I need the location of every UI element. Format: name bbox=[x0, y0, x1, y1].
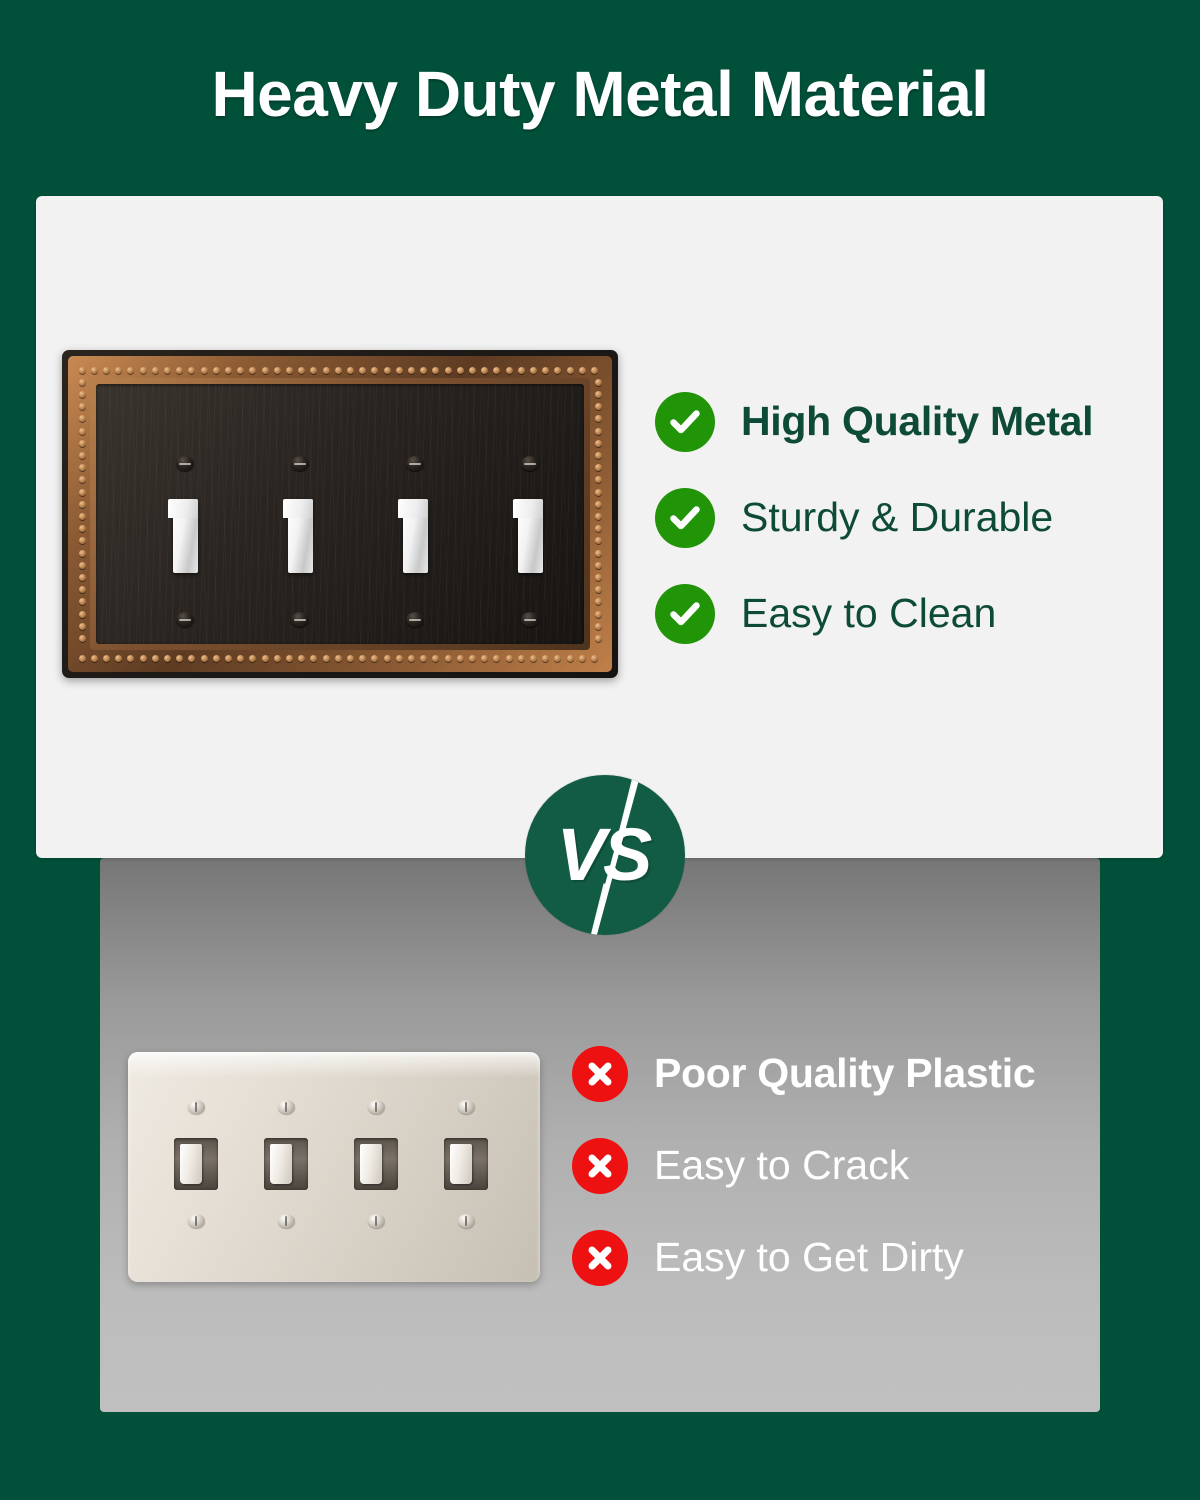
border-bead bbox=[445, 655, 452, 662]
border-bead bbox=[595, 440, 602, 447]
border-bead bbox=[213, 655, 220, 662]
screw-icon bbox=[406, 456, 424, 471]
feature-item: Easy to Get Dirty bbox=[572, 1227, 1112, 1289]
feature-item: High Quality Metal bbox=[655, 388, 1155, 455]
border-bead bbox=[79, 501, 86, 508]
border-bead bbox=[595, 635, 602, 642]
border-bead bbox=[335, 367, 342, 374]
border-bead bbox=[396, 655, 403, 662]
feature-label: Easy to Crack bbox=[654, 1144, 909, 1187]
border-bead bbox=[359, 655, 366, 662]
border-bead bbox=[91, 367, 98, 374]
border-bead bbox=[347, 367, 354, 374]
border-bead bbox=[310, 367, 317, 374]
screw-icon bbox=[406, 612, 424, 627]
screw-icon bbox=[291, 612, 309, 627]
border-bead bbox=[79, 574, 86, 581]
toggle-lever bbox=[180, 1144, 202, 1184]
x-circle-icon bbox=[572, 1046, 628, 1102]
border-bead bbox=[79, 464, 86, 471]
check-circle-icon bbox=[655, 488, 715, 548]
border-bead bbox=[595, 464, 602, 471]
border-bead bbox=[518, 367, 525, 374]
border-bead bbox=[115, 655, 122, 662]
border-bead bbox=[595, 415, 602, 422]
border-bead bbox=[595, 513, 602, 520]
border-bead bbox=[518, 655, 525, 662]
border-bead bbox=[457, 367, 464, 374]
border-bead bbox=[79, 537, 86, 544]
border-bead bbox=[595, 476, 602, 483]
border-bead bbox=[493, 367, 500, 374]
border-bead bbox=[262, 367, 269, 374]
screw-icon bbox=[188, 1100, 205, 1114]
toggle-switch bbox=[403, 499, 428, 573]
vs-badge: VS bbox=[525, 775, 685, 935]
toggle-switch bbox=[288, 499, 313, 573]
border-bead bbox=[432, 367, 439, 374]
toggle-switch bbox=[444, 1138, 488, 1190]
border-bead bbox=[591, 655, 598, 662]
border-bead bbox=[595, 525, 602, 532]
border-bead bbox=[79, 550, 86, 557]
border-bead bbox=[506, 655, 513, 662]
toggle-switch bbox=[518, 499, 543, 573]
border-bead bbox=[567, 367, 574, 374]
border-bead bbox=[323, 655, 330, 662]
border-bead bbox=[140, 367, 147, 374]
border-bead bbox=[481, 655, 488, 662]
toggle-switch bbox=[173, 499, 198, 573]
toggle-switch bbox=[354, 1138, 398, 1190]
check-circle-icon bbox=[655, 392, 715, 452]
screw-icon bbox=[368, 1214, 385, 1228]
border-bead bbox=[530, 367, 537, 374]
border-bead bbox=[79, 415, 86, 422]
feature-item: Easy to Clean bbox=[655, 580, 1155, 647]
border-bead bbox=[542, 367, 549, 374]
border-bead bbox=[237, 655, 244, 662]
border-bead bbox=[249, 367, 256, 374]
border-bead bbox=[310, 655, 317, 662]
check-circle-icon bbox=[655, 584, 715, 644]
border-bead bbox=[188, 655, 195, 662]
border-bead bbox=[595, 428, 602, 435]
border-bead bbox=[164, 367, 171, 374]
feature-label: Easy to Get Dirty bbox=[654, 1236, 964, 1279]
border-bead bbox=[359, 367, 366, 374]
toggle-lever bbox=[450, 1144, 472, 1184]
border-bead bbox=[140, 655, 147, 662]
border-bead bbox=[176, 655, 183, 662]
border-bead bbox=[127, 367, 134, 374]
border-bead bbox=[262, 655, 269, 662]
border-bead bbox=[595, 452, 602, 459]
border-bead bbox=[595, 562, 602, 569]
border-bead bbox=[595, 623, 602, 630]
border-bead bbox=[595, 403, 602, 410]
border-bead bbox=[408, 655, 415, 662]
border-bead bbox=[79, 562, 86, 569]
bad-feature-list: Poor Quality Plastic Easy to Crack Easy … bbox=[572, 1043, 1112, 1319]
border-bead bbox=[103, 367, 110, 374]
border-bead bbox=[79, 367, 86, 374]
border-bead bbox=[213, 367, 220, 374]
border-bead bbox=[298, 367, 305, 374]
border-bead bbox=[579, 367, 586, 374]
border-bead bbox=[79, 623, 86, 630]
toggle-lever bbox=[360, 1144, 382, 1184]
border-bead bbox=[79, 440, 86, 447]
plate-face bbox=[96, 384, 584, 644]
border-bead bbox=[579, 655, 586, 662]
border-bead bbox=[79, 379, 86, 386]
border-bead bbox=[595, 537, 602, 544]
screw-icon bbox=[368, 1100, 385, 1114]
border-bead bbox=[79, 635, 86, 642]
x-circle-icon bbox=[572, 1138, 628, 1194]
border-bead bbox=[79, 586, 86, 593]
border-bead bbox=[188, 367, 195, 374]
border-bead bbox=[323, 367, 330, 374]
border-bead bbox=[595, 550, 602, 557]
border-bead bbox=[79, 391, 86, 398]
border-bead bbox=[493, 655, 500, 662]
border-bead bbox=[103, 655, 110, 662]
border-bead bbox=[79, 476, 86, 483]
border-bead bbox=[595, 611, 602, 618]
toggle-switch bbox=[174, 1138, 218, 1190]
feature-label: Easy to Clean bbox=[741, 592, 996, 635]
border-bead bbox=[420, 367, 427, 374]
border-bead bbox=[481, 367, 488, 374]
screw-icon bbox=[188, 1214, 205, 1228]
border-bead bbox=[530, 655, 537, 662]
feature-item: Poor Quality Plastic bbox=[572, 1043, 1112, 1105]
border-bead bbox=[249, 655, 256, 662]
border-bead bbox=[115, 367, 122, 374]
border-bead bbox=[164, 655, 171, 662]
border-bead bbox=[595, 501, 602, 508]
border-bead bbox=[420, 655, 427, 662]
border-bead bbox=[286, 367, 293, 374]
border-bead bbox=[152, 655, 159, 662]
border-bead bbox=[274, 367, 281, 374]
screw-icon bbox=[458, 1100, 475, 1114]
border-bead bbox=[201, 367, 208, 374]
screw-icon bbox=[458, 1214, 475, 1228]
border-bead bbox=[201, 655, 208, 662]
toggle-switch bbox=[264, 1138, 308, 1190]
border-bead bbox=[286, 655, 293, 662]
border-bead bbox=[79, 525, 86, 532]
border-bead bbox=[469, 655, 476, 662]
page-title: Heavy Duty Metal Material bbox=[0, 62, 1200, 126]
border-bead bbox=[432, 655, 439, 662]
border-bead bbox=[384, 655, 391, 662]
border-bead bbox=[595, 489, 602, 496]
good-product-panel: High Quality Metal Sturdy & Durable Easy… bbox=[36, 196, 1163, 858]
metal-wall-plate-image bbox=[62, 350, 618, 678]
border-bead bbox=[274, 655, 281, 662]
border-bead bbox=[591, 367, 598, 374]
border-bead bbox=[457, 655, 464, 662]
border-bead bbox=[554, 367, 561, 374]
border-bead bbox=[595, 598, 602, 605]
border-bead bbox=[79, 489, 86, 496]
border-bead bbox=[506, 367, 513, 374]
plastic-wall-plate-image bbox=[128, 1052, 540, 1282]
border-bead bbox=[469, 367, 476, 374]
screw-icon bbox=[176, 456, 194, 471]
border-bead bbox=[567, 655, 574, 662]
border-bead bbox=[79, 428, 86, 435]
border-bead bbox=[595, 574, 602, 581]
border-bead bbox=[79, 598, 86, 605]
feature-label: Sturdy & Durable bbox=[741, 496, 1053, 539]
border-bead bbox=[298, 655, 305, 662]
border-bead bbox=[595, 586, 602, 593]
border-bead bbox=[371, 367, 378, 374]
border-bead bbox=[542, 655, 549, 662]
border-bead bbox=[225, 367, 232, 374]
vs-label: VS bbox=[557, 818, 650, 892]
infographic-stage: Heavy Duty Metal Material bbox=[0, 0, 1200, 1500]
border-bead bbox=[595, 391, 602, 398]
border-bead bbox=[445, 367, 452, 374]
border-bead bbox=[79, 655, 86, 662]
feature-item: Easy to Crack bbox=[572, 1135, 1112, 1197]
border-bead bbox=[384, 367, 391, 374]
border-bead bbox=[371, 655, 378, 662]
border-bead bbox=[237, 367, 244, 374]
screw-icon bbox=[278, 1214, 295, 1228]
bad-product-panel: Poor Quality Plastic Easy to Crack Easy … bbox=[100, 858, 1100, 1412]
toggle-lever bbox=[270, 1144, 292, 1184]
feature-label: High Quality Metal bbox=[741, 400, 1093, 443]
border-bead bbox=[79, 403, 86, 410]
screw-icon bbox=[521, 456, 539, 471]
x-circle-icon bbox=[572, 1230, 628, 1286]
border-bead bbox=[79, 513, 86, 520]
border-bead bbox=[335, 655, 342, 662]
border-bead bbox=[79, 452, 86, 459]
screw-icon bbox=[278, 1100, 295, 1114]
good-feature-list: High Quality Metal Sturdy & Durable Easy… bbox=[655, 388, 1155, 676]
border-bead bbox=[396, 367, 403, 374]
border-bead bbox=[595, 379, 602, 386]
border-bead bbox=[152, 367, 159, 374]
border-bead bbox=[408, 367, 415, 374]
screw-icon bbox=[291, 456, 309, 471]
border-bead bbox=[225, 655, 232, 662]
screw-icon bbox=[176, 612, 194, 627]
border-bead bbox=[91, 655, 98, 662]
border-bead bbox=[554, 655, 561, 662]
border-bead bbox=[79, 611, 86, 618]
border-bead bbox=[176, 367, 183, 374]
screw-icon bbox=[521, 612, 539, 627]
border-bead bbox=[127, 655, 134, 662]
feature-item: Sturdy & Durable bbox=[655, 484, 1155, 551]
feature-label: Poor Quality Plastic bbox=[654, 1052, 1035, 1095]
border-bead bbox=[347, 655, 354, 662]
